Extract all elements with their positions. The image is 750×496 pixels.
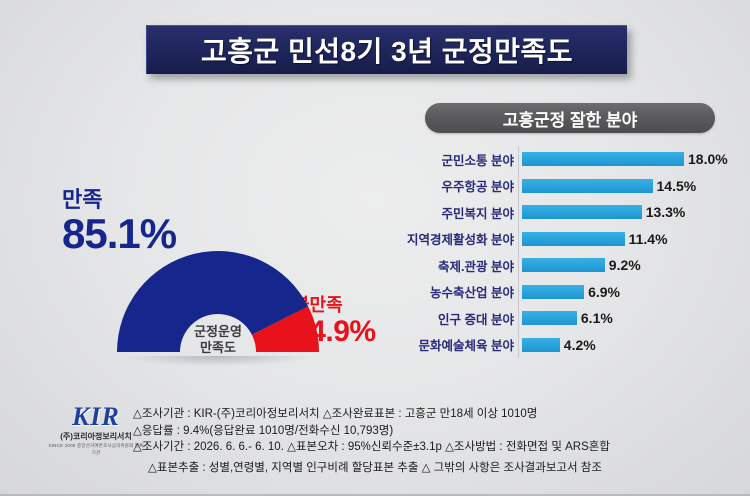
bar-row: 군민소통 분야18.0% [390, 146, 735, 173]
bar-row: 축제.관광 분야9.2% [390, 252, 735, 279]
bar-value-label: 4.2% [564, 337, 596, 353]
bar-fill [522, 205, 642, 219]
bar-value-label: 6.1% [581, 310, 613, 326]
bar-track: 6.9% [520, 279, 735, 306]
bar-track: 9.2% [520, 252, 735, 279]
bar-track: 6.1% [520, 305, 735, 332]
satisfied-label: 만족 [62, 188, 176, 212]
bar-value-label: 9.2% [609, 257, 641, 273]
page-title: 고흥군 민선8기 3년 군정만족도 [201, 30, 573, 70]
bar-row: 문화예술체육 분야4.2% [390, 332, 735, 359]
bar-value-label: 11.4% [629, 231, 668, 247]
bar-fill [522, 311, 577, 325]
survey-note-line: △조사기간 : 2026. 6. 6.- 6. 10. △표본오차 : 95%신… [133, 439, 733, 456]
bar-chart: 군민소통 분야18.0%우주항공 분야14.5%주민복지 분야13.3%지역경제… [390, 146, 735, 358]
logo-subtext: SINCE 2000 중앙선거여론조사심의위원회 등록기관 [48, 442, 144, 456]
panel-header-pill: 고흥군정 잘한 분야 [425, 103, 715, 133]
bar-category-label: 우주항공 분야 [390, 176, 520, 195]
bar-category-label: 군민소통 분야 [390, 150, 520, 169]
bar-value-label: 6.9% [588, 284, 620, 300]
survey-note-line: △응답률 : 9.4%(응답완료 1010명/전화수신 10,793명) [133, 423, 733, 440]
bar-category-label: 주민복지 분야 [390, 203, 520, 222]
survey-note-line: △조사기관 : KIR-(주)코리아정보리서치 △조사완료표본 : 고흥군 만1… [133, 406, 733, 423]
bar-row: 농수축산업 분야6.9% [390, 279, 735, 306]
bar-fill [522, 152, 684, 166]
survey-notes: △조사기관 : KIR-(주)코리아정보리서치 △조사완료표본 : 고흥군 만1… [133, 406, 733, 456]
bar-fill [522, 258, 605, 272]
bar-track: 14.5% [520, 173, 735, 200]
bar-track: 18.0% [520, 146, 735, 173]
logo-mark: KIR [48, 404, 144, 430]
bar-row: 인구 증대 분야6.1% [390, 305, 735, 332]
bar-category-label: 문화예술체육 분야 [390, 335, 520, 354]
panel-title: 고흥군정 잘한 분야 [503, 106, 638, 131]
bar-category-label: 인구 증대 분야 [390, 309, 520, 328]
gauge-shadow [124, 356, 312, 366]
bar-fill [522, 179, 653, 193]
bar-fill [522, 285, 584, 299]
bar-track: 13.3% [520, 199, 735, 226]
survey-note-centered: △표본추출 : 성별,연령별, 지역별 인구비례 할당표본 추출 △ 그밖의 사… [0, 460, 750, 476]
infographic-canvas: 고흥군 민선8기 3년 군정만족도 만족 85.1% 불만족 14.9% 군정운… [0, 0, 750, 496]
bar-row: 우주항공 분야14.5% [390, 173, 735, 200]
title-banner: 고흥군 민선8기 3년 군정만족도 [146, 25, 627, 74]
bar-value-label: 18.0% [688, 151, 728, 167]
bar-fill [522, 338, 560, 352]
bar-value-label: 13.3% [646, 204, 686, 220]
bar-row: 지역경제활성화 분야11.4% [390, 226, 735, 253]
bar-track: 11.4% [520, 226, 735, 253]
satisfaction-gauge: 군정운영 만족도 [108, 240, 328, 360]
bar-value-label: 14.5% [657, 178, 697, 194]
gauge-svg [108, 240, 328, 360]
bar-fill [522, 232, 625, 246]
bar-track: 4.2% [520, 332, 735, 359]
logo: KIR (주)코리아정보리서치 SINCE 2000 중앙선거여론조사심의위원회… [48, 404, 144, 456]
bar-category-label: 축제.관광 분야 [390, 256, 520, 275]
bar-category-label: 농수축산업 분야 [390, 282, 520, 301]
bar-category-label: 지역경제활성화 분야 [390, 229, 520, 248]
bar-row: 주민복지 분야13.3% [390, 199, 735, 226]
logo-company-name: (주)코리아정보리서치 [48, 431, 144, 442]
